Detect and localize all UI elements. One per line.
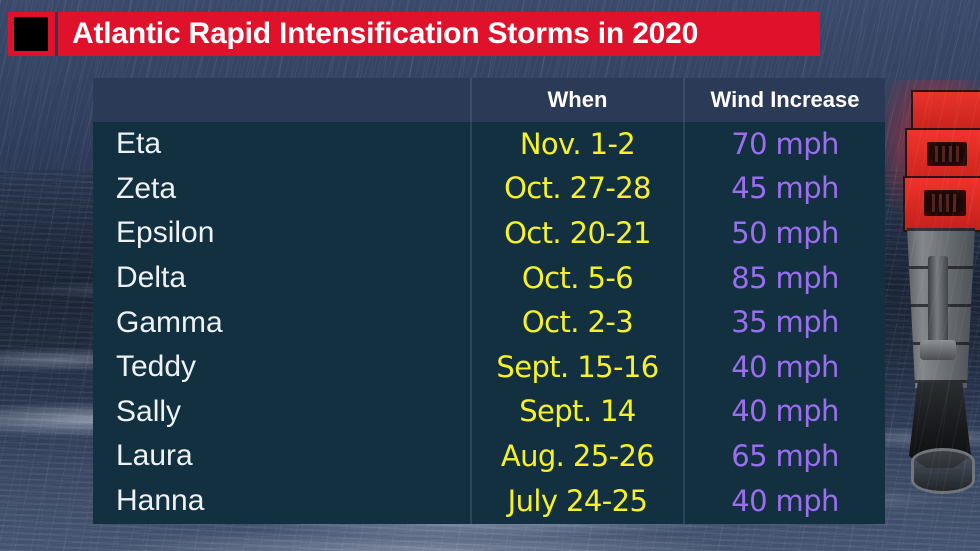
page-title: Atlantic Rapid Intensification Storms in…: [72, 19, 698, 49]
weather-graphic: Atlantic Rapid Intensification Storms in…: [0, 0, 980, 551]
storm-name: Epsilon: [93, 211, 470, 256]
storm-wind-increase: 40 mph: [685, 479, 885, 524]
navigation-buoy: [893, 96, 980, 516]
title-banner: Atlantic Rapid Intensification Storms in…: [8, 12, 820, 56]
buoy-lantern-middle: [905, 128, 980, 182]
storm-wind-increase: 50 mph: [685, 211, 885, 256]
table-row: DeltaOct. 5-685 mph: [93, 256, 885, 301]
storm-name: Delta: [93, 256, 470, 301]
buoy-hub: [920, 340, 956, 360]
storm-wind-increase: 40 mph: [685, 345, 885, 390]
table-row: LauraAug. 25-2665 mph: [93, 434, 885, 479]
buoy-window-middle: [927, 142, 967, 166]
storm-wind-increase: 35 mph: [685, 300, 885, 345]
storm-name: Hanna: [93, 479, 470, 524]
storm-date: Sept. 15-16: [472, 345, 683, 390]
storm-date: Sept. 14: [472, 390, 683, 435]
table-row: ZetaOct. 27-2845 mph: [93, 167, 885, 212]
storm-wind-increase: 70 mph: [685, 122, 885, 167]
table-row: EtaNov. 1-270 mph: [93, 122, 885, 167]
storm-name: Gamma: [93, 300, 470, 345]
storm-date: Aug. 25-26: [472, 434, 683, 479]
column-header-wind: Wind Increase: [685, 78, 885, 122]
table-row: HannaJuly 24-2540 mph: [93, 479, 885, 524]
storm-date: July 24-25: [472, 479, 683, 524]
storm-wind-increase: 65 mph: [685, 434, 885, 479]
storm-date: Oct. 5-6: [472, 256, 683, 301]
black-square-logo-icon: [14, 17, 48, 51]
table-rows: EtaNov. 1-270 mphZetaOct. 27-2845 mphEps…: [93, 122, 885, 524]
table-row: TeddySept. 15-1640 mph: [93, 345, 885, 390]
storm-date: Oct. 20-21: [472, 211, 683, 256]
storm-name: Eta: [93, 122, 470, 167]
storm-date: Oct. 27-28: [472, 167, 683, 212]
storm-name: Sally: [93, 390, 470, 435]
storm-wind-increase: 45 mph: [685, 167, 885, 212]
table-row: SallySept. 1440 mph: [93, 390, 885, 435]
buoy-ring: [911, 448, 975, 494]
storm-date: Nov. 1-2: [472, 122, 683, 167]
storm-wind-increase: 40 mph: [685, 390, 885, 435]
table-row: GammaOct. 2-335 mph: [93, 300, 885, 345]
buoy-lantern-bottom: [903, 176, 980, 232]
column-header-when: When: [472, 78, 683, 122]
buoy-window-bottom: [924, 190, 966, 216]
storm-name: Teddy: [93, 345, 470, 390]
storm-date: Oct. 2-3: [472, 300, 683, 345]
table-row: EpsilonOct. 20-2150 mph: [93, 211, 885, 256]
banner-divider: [55, 12, 58, 56]
storm-wind-increase: 85 mph: [685, 256, 885, 301]
storm-table: When Wind Increase EtaNov. 1-270 mphZeta…: [93, 78, 885, 524]
storm-name: Laura: [93, 434, 470, 479]
storm-name: Zeta: [93, 167, 470, 212]
